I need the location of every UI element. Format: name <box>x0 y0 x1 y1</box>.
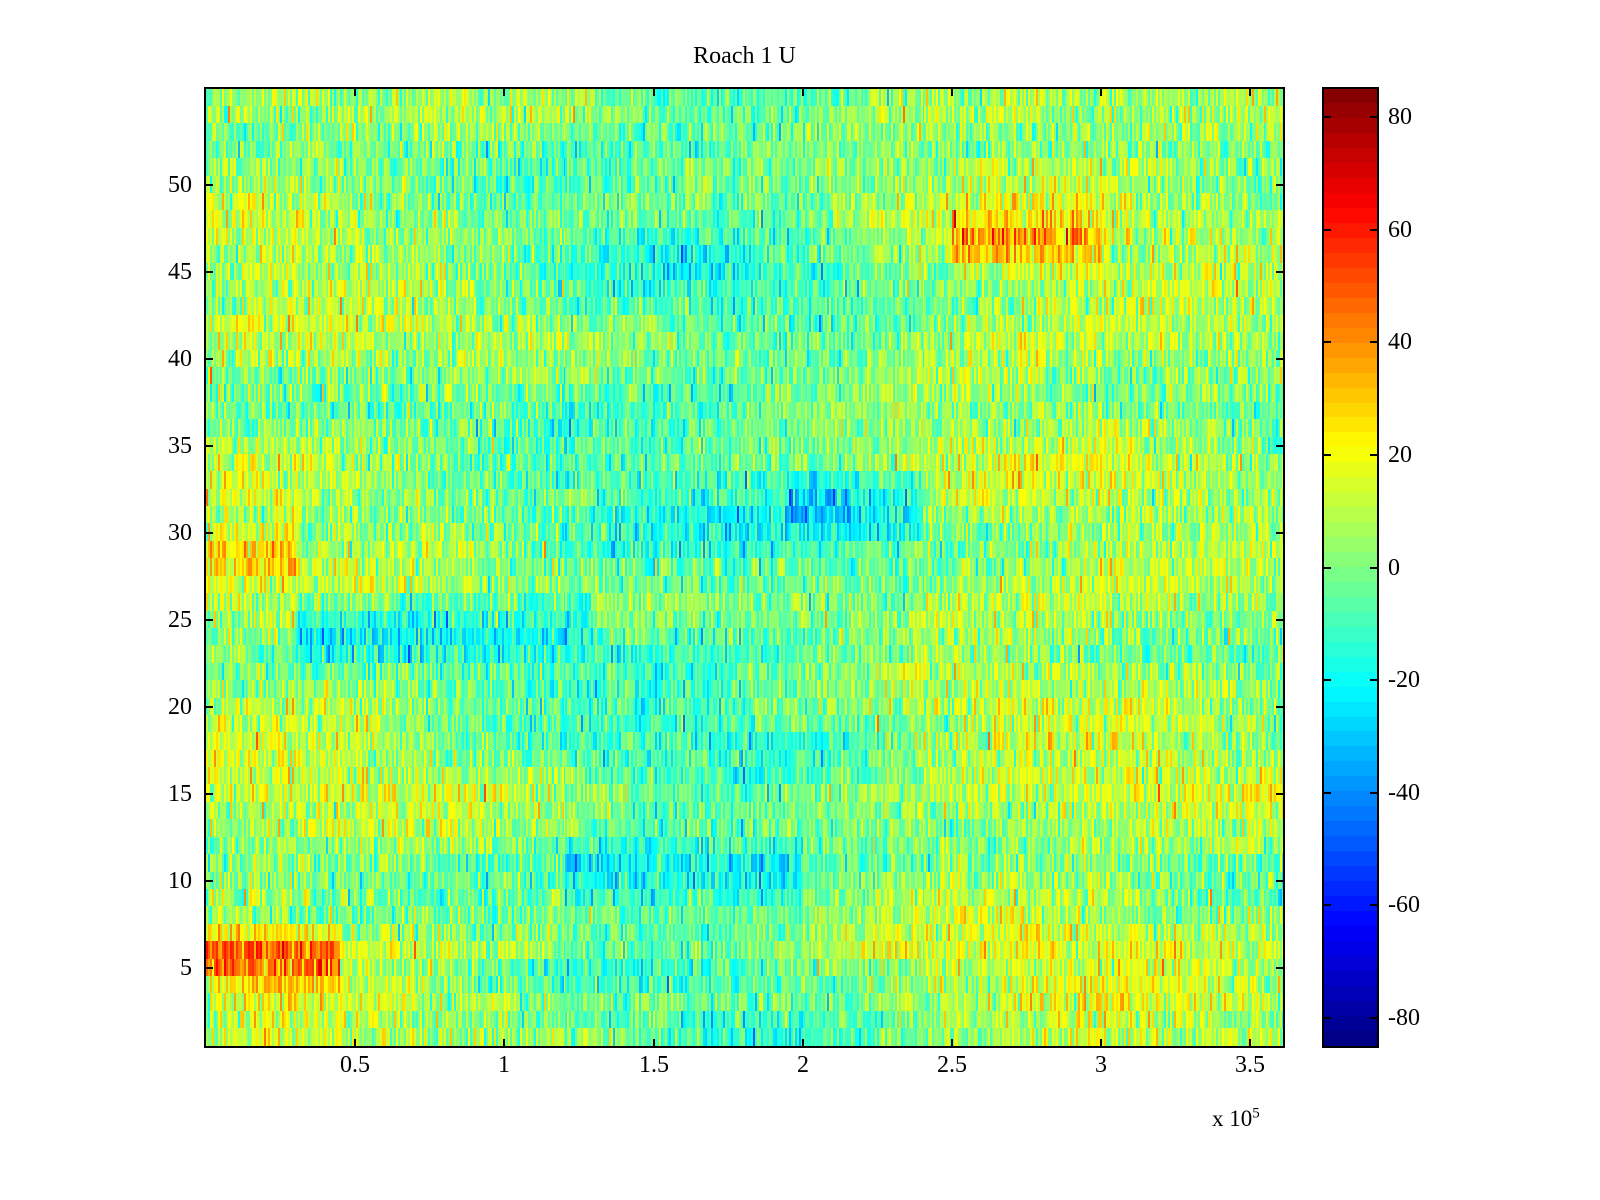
colorbar-tick <box>1322 229 1331 231</box>
y-axis-tick <box>1276 184 1285 186</box>
y-axis-tick <box>1276 880 1285 882</box>
x-axis-tick-label: 2.5 <box>892 1052 1012 1078</box>
colorbar-tick <box>1322 679 1331 681</box>
colorbar-tick <box>1322 567 1331 569</box>
x-axis-tick-label: 1 <box>444 1052 564 1078</box>
y-axis-tick <box>204 184 213 186</box>
y-axis-tick-label: 40 <box>72 347 192 371</box>
x-axis-tick <box>354 87 356 96</box>
x-axis-tick <box>1100 1039 1102 1048</box>
y-axis-tick <box>204 967 213 969</box>
x-axis-tick <box>653 1039 655 1048</box>
y-axis-tick <box>204 271 213 273</box>
colorbar-tick <box>1370 904 1379 906</box>
colorbar-tick-label: 60 <box>1388 218 1412 242</box>
colorbar-tick <box>1370 341 1379 343</box>
colorbar-tick-label: -20 <box>1388 668 1420 692</box>
figure-canvas: Roach 1 U 51015202530354045500.511.522.5… <box>0 0 1600 1200</box>
y-axis-tick-label: 30 <box>72 521 192 545</box>
y-axis-tick <box>1276 532 1285 534</box>
x-axis-exponent-power: 5 <box>1252 1105 1260 1121</box>
colorbar-tick <box>1370 792 1379 794</box>
x-axis-tick <box>653 87 655 96</box>
colorbar-tick-label: 40 <box>1388 330 1412 354</box>
x-axis-tick-label: 2 <box>743 1052 863 1078</box>
colorbar-tick <box>1370 567 1379 569</box>
y-axis-tick <box>204 619 213 621</box>
colorbar-tick <box>1370 116 1379 118</box>
y-axis-tick-label: 35 <box>72 434 192 458</box>
x-axis-tick <box>1249 1039 1251 1048</box>
colorbar-tick-label: 80 <box>1388 105 1412 129</box>
y-axis-tick <box>1276 445 1285 447</box>
x-axis-tick <box>503 87 505 96</box>
x-axis-tick <box>1249 87 1251 96</box>
x-axis-tick <box>503 1039 505 1048</box>
colorbar-tick <box>1370 229 1379 231</box>
y-axis-tick <box>204 706 213 708</box>
y-axis-tick-label: 15 <box>72 782 192 806</box>
colorbar-tick <box>1322 341 1331 343</box>
colorbar-tick <box>1322 792 1331 794</box>
colorbar-tick <box>1370 1017 1379 1019</box>
colorbar-tick <box>1370 454 1379 456</box>
y-axis-tick-label: 20 <box>72 695 192 719</box>
y-axis-tick <box>1276 793 1285 795</box>
colorbar-tick-label: -80 <box>1388 1006 1420 1030</box>
colorbar-tick-label: -40 <box>1388 781 1420 805</box>
y-axis-tick <box>204 532 213 534</box>
y-axis-tick <box>1276 358 1285 360</box>
x-axis-tick <box>802 87 804 96</box>
y-axis-tick <box>1276 271 1285 273</box>
colorbar-tick <box>1370 679 1379 681</box>
y-axis-tick <box>1276 619 1285 621</box>
y-axis-tick <box>204 445 213 447</box>
x-axis-tick-label: 3 <box>1041 1052 1161 1078</box>
x-axis-tick <box>1100 87 1102 96</box>
colorbar-tick-label: -60 <box>1388 893 1420 917</box>
y-axis-tick-label: 50 <box>72 173 192 197</box>
x-axis-tick-label: 0.5 <box>295 1052 415 1078</box>
x-axis-exponent-base: x 10 <box>1212 1106 1252 1131</box>
colorbar-tick-label: 0 <box>1388 556 1400 580</box>
x-axis-tick <box>802 1039 804 1048</box>
x-axis-exponent-label: x 105 <box>1212 1106 1260 1132</box>
x-axis-tick <box>951 87 953 96</box>
y-axis-tick-label: 10 <box>72 869 192 893</box>
y-axis-tick <box>1276 967 1285 969</box>
y-axis-tick-label: 25 <box>72 608 192 632</box>
colorbar-tick <box>1322 454 1331 456</box>
colorbar-tick <box>1322 116 1331 118</box>
y-axis-tick-label: 45 <box>72 260 192 284</box>
colorbar-tick <box>1322 904 1331 906</box>
heatmap-image[interactable] <box>206 89 1283 1046</box>
x-axis-tick <box>951 1039 953 1048</box>
y-axis-tick <box>204 880 213 882</box>
y-axis-tick <box>204 358 213 360</box>
colorbar-tick-label: 20 <box>1388 443 1412 467</box>
page-title: Roach 1 U <box>204 42 1285 70</box>
x-axis-tick-label: 3.5 <box>1190 1052 1310 1078</box>
x-axis-tick-label: 1.5 <box>594 1052 714 1078</box>
x-axis-tick <box>354 1039 356 1048</box>
heatmap-axes[interactable] <box>204 87 1285 1048</box>
y-axis-tick <box>204 793 213 795</box>
colorbar-tick <box>1322 1017 1331 1019</box>
y-axis-tick <box>1276 706 1285 708</box>
y-axis-tick-label: 5 <box>72 956 192 980</box>
